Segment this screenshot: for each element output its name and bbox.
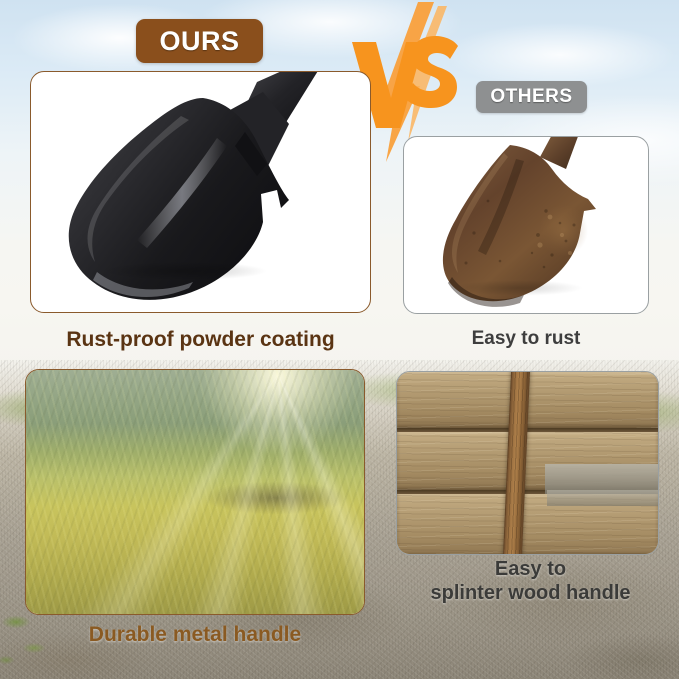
panel-ours-handle — [25, 369, 365, 615]
others-badge: OTHERS — [476, 81, 587, 113]
wood-planks-image — [397, 372, 658, 554]
rust-blade-drop-shadow — [428, 277, 608, 299]
metal-handle-image — [26, 370, 364, 614]
caption-ours-handle: Durable metal handle — [25, 623, 365, 648]
panel-ours-blade — [30, 71, 371, 313]
rusty-shovel-blade-image — [404, 137, 648, 313]
panel-others-wood — [396, 371, 659, 555]
caption-ours-blade: Rust-proof powder coating — [30, 328, 371, 353]
panel-others-blade — [403, 136, 649, 314]
meadow-texture — [26, 370, 364, 614]
comparison-infographic: OURS OTHERS — [0, 0, 679, 679]
black-shovel-blade-image — [31, 72, 370, 312]
ours-badge: OURS — [136, 19, 263, 63]
caption-others-blade: Easy to rust — [403, 328, 649, 350]
caption-others-wood: Easy to splinter wood handle — [399, 558, 662, 605]
blade-drop-shadow — [69, 258, 299, 284]
weathered-gray-patch — [547, 490, 659, 506]
